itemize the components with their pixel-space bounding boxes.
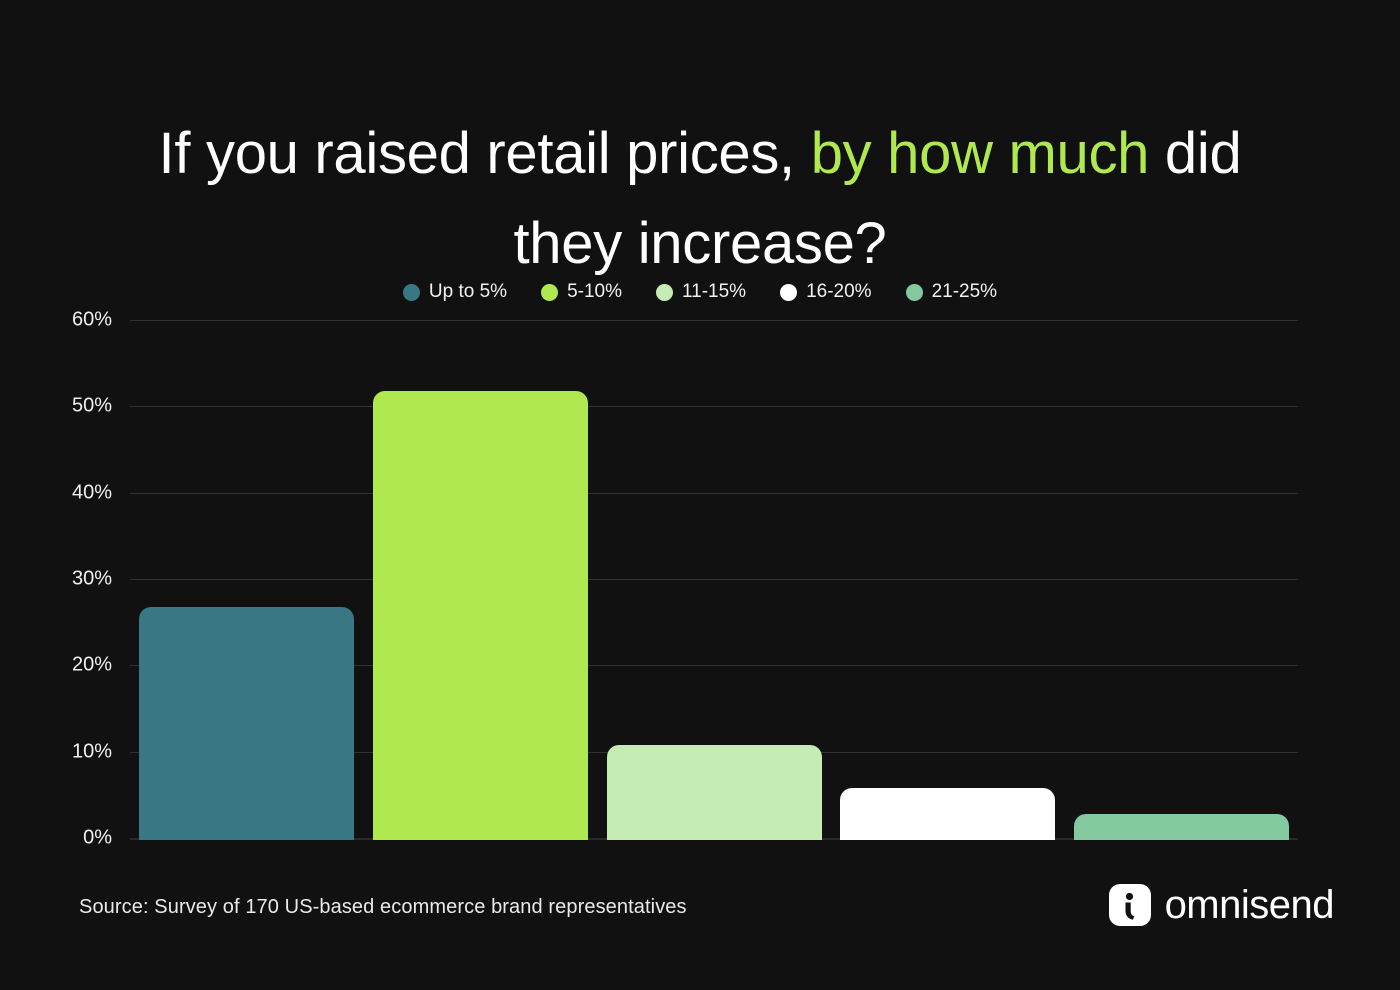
legend-item[interactable]: 11-15% [656,281,746,303]
bar-11-15[interactable] [607,745,822,840]
gridline [130,493,1298,494]
y-axis-tick-label: 0% [0,827,112,850]
y-axis-tick-label: 30% [0,568,112,591]
chart-title: If you raised retail prices, by how much… [140,109,1260,289]
y-axis-tick-label: 10% [0,740,112,763]
legend-item[interactable]: 5-10% [541,281,622,303]
y-axis-tick-label: 40% [0,481,112,504]
legend-swatch-icon [541,284,558,301]
chart-canvas: If you raised retail prices, by how much… [0,0,1400,990]
legend-label: 5-10% [567,281,622,303]
y-axis-tick-label: 50% [0,395,112,418]
legend-swatch-icon [656,284,673,301]
plot-area: 0%10%20%30%40%50%60% [130,320,1298,840]
y-axis-tick-label: 20% [0,654,112,677]
chart-legend: Up to 5%5-10%11-15%16-20%21-25% [0,281,1400,303]
brand-name: omnisend [1165,885,1334,925]
bar-5-10[interactable] [373,391,588,840]
brand-logo: omnisend [1109,884,1334,926]
legend-swatch-icon [780,284,797,301]
y-axis-tick-label: 60% [0,309,112,332]
legend-swatch-icon [403,284,420,301]
gridline [130,579,1298,580]
legend-item[interactable]: Up to 5% [403,281,507,303]
legend-label: 21-25% [932,281,998,303]
title-part-1: If you raised retail prices, [159,121,811,186]
bar-up-to-5[interactable] [139,607,354,840]
legend-swatch-icon [906,284,923,301]
legend-label: 16-20% [806,281,872,303]
gridline [130,406,1298,407]
source-note: Source: Survey of 170 US-based ecommerce… [79,896,687,919]
omnisend-logo-icon [1109,884,1151,926]
legend-item[interactable]: 16-20% [780,281,872,303]
bar-21-25[interactable] [1074,814,1289,840]
bar-16-20[interactable] [840,788,1055,840]
legend-label: Up to 5% [429,281,507,303]
legend-item[interactable]: 21-25% [906,281,998,303]
title-accent: by how much [811,121,1149,186]
legend-label: 11-15% [682,281,746,303]
gridline [130,320,1298,321]
